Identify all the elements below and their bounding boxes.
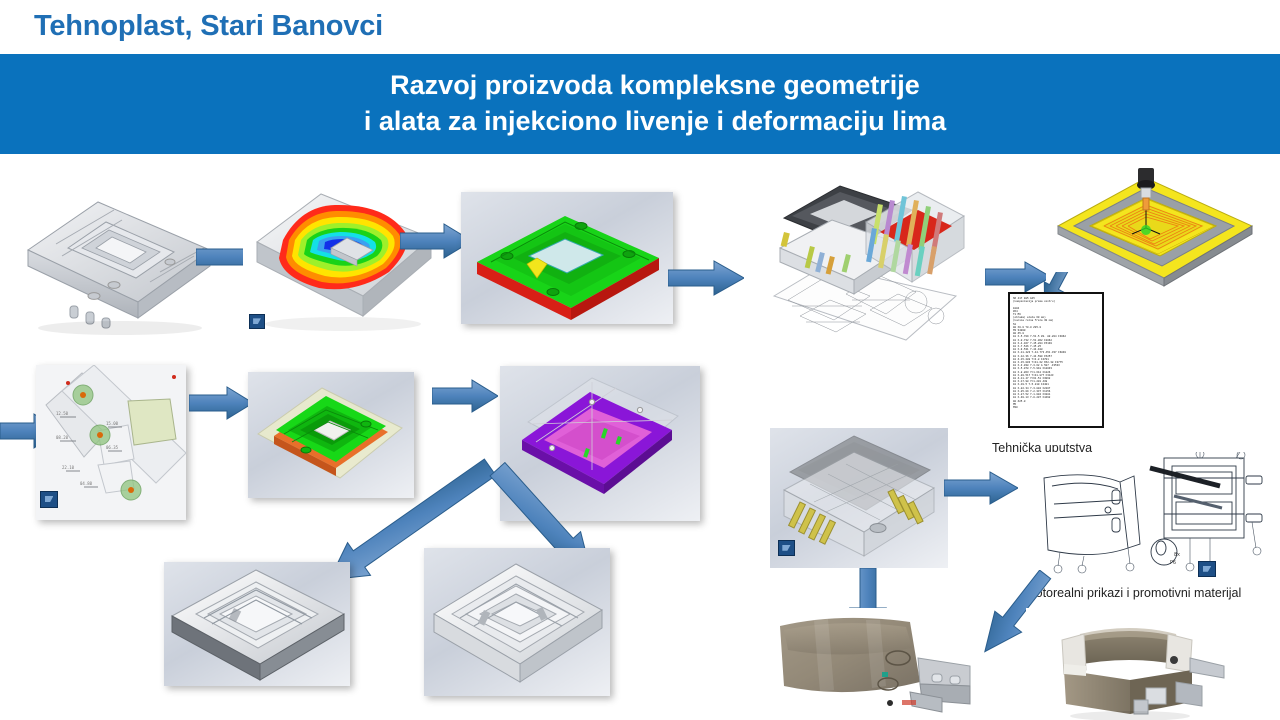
arrow-core-to-right (668, 258, 744, 298)
svg-text:06.35: 06.35 (106, 445, 119, 450)
detail-annotated-view: 12.5008.20 15.0006.35 22.1004.80 (36, 365, 186, 520)
svg-text:15.00: 15.00 (106, 421, 119, 426)
arrow-mold-to-instructions (944, 470, 1018, 506)
svg-text:8x: 8x (1174, 552, 1180, 558)
svg-text:08.20: 08.20 (56, 435, 69, 440)
slide-root: Tehnoplast, Stari Banovci Razvoj proizvo… (0, 0, 1280, 720)
software-logo-chip-4 (1198, 561, 1216, 577)
svg-text:12.50: 12.50 (56, 411, 69, 416)
transparent-mold-svg (770, 428, 948, 568)
software-logo-chip-3 (778, 540, 795, 556)
cavity-insert-solid (424, 548, 610, 696)
photoreal-render-box (1026, 608, 1232, 720)
mold-core-green (461, 192, 673, 324)
mold-core-green-svg (461, 192, 673, 324)
arrow-cavity-to-assembly (432, 378, 498, 414)
cavity-insert-svg (424, 548, 610, 696)
tech-instructions-svg: 8x P6 (1024, 452, 1274, 582)
nc-program-text: %O 417 G85 G45 (kompenzacija prema centr… (1013, 297, 1099, 409)
transparent-mold-assembly (770, 428, 948, 568)
title-band: Razvoj proizvoda kompleksne geometrije i… (0, 54, 1280, 154)
exploded-mold-svg (766, 170, 966, 355)
nc-program: %O 417 G85 G45 (kompenzacija prema centr… (1008, 292, 1104, 428)
company-title: Tehnoplast, Stari Banovci (34, 10, 383, 43)
core-insert-solid (164, 562, 350, 686)
software-logo-chip-2 (40, 491, 58, 508)
svg-text:P6: P6 (1170, 560, 1176, 566)
photoreal-cover-svg (770, 608, 976, 720)
svg-text:04.80: 04.80 (80, 481, 93, 486)
technical-instructions: 8x P6 (1024, 452, 1274, 582)
photoreal-render-cover (770, 608, 976, 720)
svg-text:22.10: 22.10 (62, 465, 75, 470)
exploded-mold-with-drawings (766, 170, 966, 355)
core-insert-svg (164, 562, 350, 686)
cam-toolpath (1046, 168, 1272, 288)
software-logo-chip-1 (249, 314, 265, 329)
arrow-detail-to-cavity (189, 385, 253, 421)
band-line-1: Razvoj proizvoda kompleksne geometrije (390, 70, 920, 100)
band-text: Razvoj proizvoda kompleksne geometrije i… (0, 68, 1280, 140)
detail-view-svg: 12.5008.20 15.0006.35 22.1004.80 (36, 365, 186, 520)
cam-toolpath-svg (1046, 168, 1272, 288)
band-line-2: i alata za injekciono livenje i deformac… (30, 104, 1280, 140)
photoreal-box-svg (1026, 608, 1232, 720)
